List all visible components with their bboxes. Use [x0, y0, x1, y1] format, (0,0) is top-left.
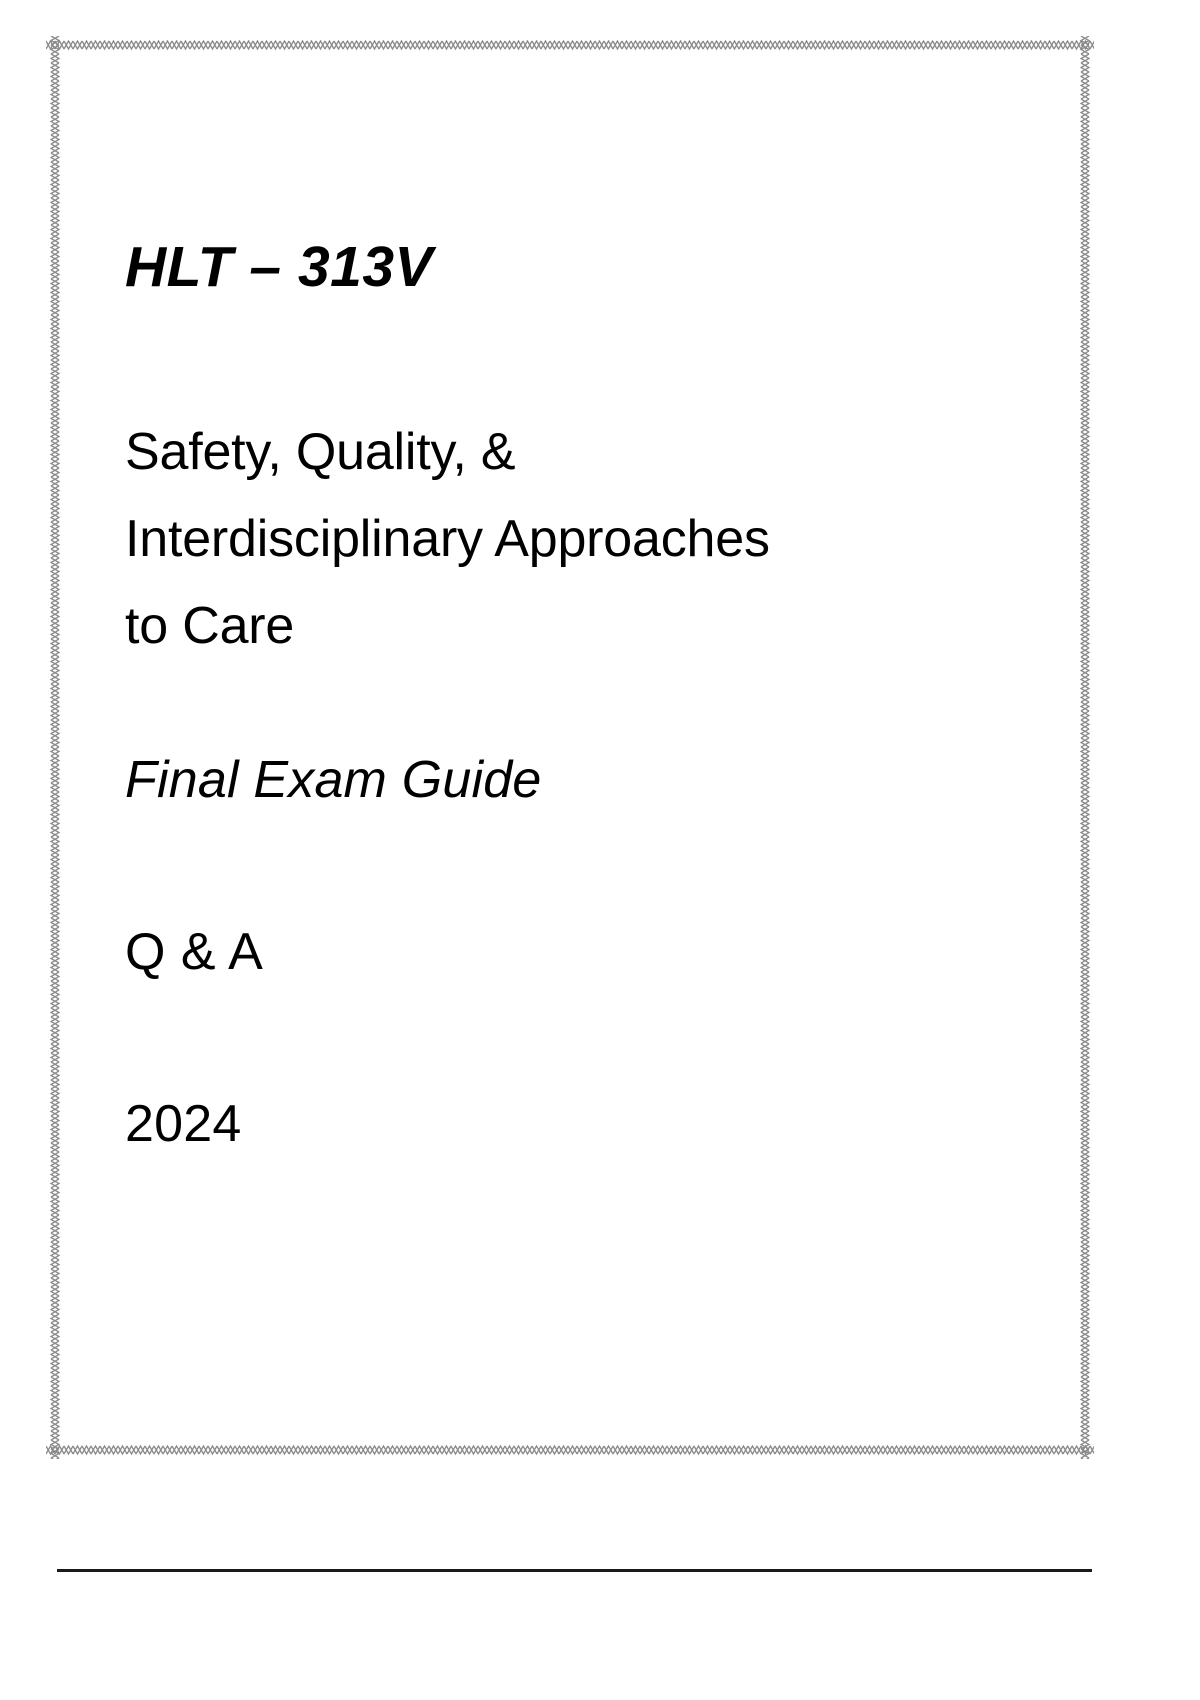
course-subtitle-line-2: Interdisciplinary Approaches: [125, 496, 1015, 583]
page-border-top-zigzag-icon: [46, 36, 1094, 54]
course-subtitle-line-3: to Care: [125, 583, 1015, 670]
qa-label: Q & A: [125, 921, 1015, 983]
cover-text-block: HLT – 313V Safety, Quality, & Interdisci…: [125, 235, 1015, 1156]
page-separator-rule: [57, 1569, 1092, 1572]
year-label: 2024: [125, 1093, 1015, 1155]
page-border-bottom-zigzag-icon: [46, 1441, 1094, 1459]
course-subtitle: Safety, Quality, & Interdisciplinary App…: [125, 409, 1015, 671]
page-border-right-zigzag-icon: [1076, 36, 1094, 1459]
course-subtitle-line-1: Safety, Quality, &: [125, 409, 1015, 496]
guide-type-label: Final Exam Guide: [125, 749, 1015, 811]
document-page: HLT – 313V Safety, Quality, & Interdisci…: [55, 45, 1085, 1450]
course-code-title: HLT – 313V: [125, 235, 1015, 301]
page-border-left-zigzag-icon: [46, 36, 64, 1459]
